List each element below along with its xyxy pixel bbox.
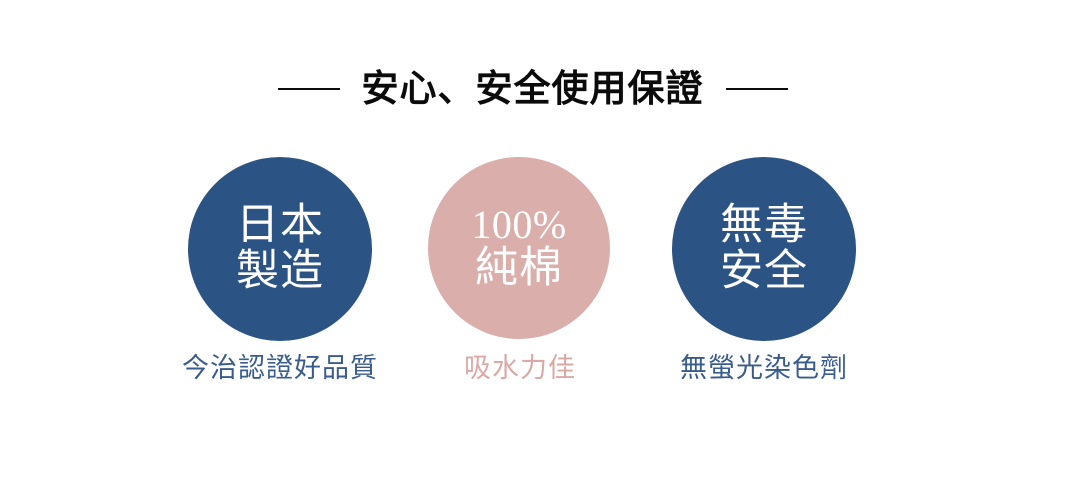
- badge-circle-line-2: 純棉: [475, 246, 563, 292]
- badge-circle-line-1: 日本: [236, 203, 324, 249]
- heading-left-rule-icon: [278, 88, 340, 90]
- badge-circle-line-1: 100%: [471, 203, 566, 246]
- badge-caption: 今治認證好品質: [142, 355, 418, 382]
- badge-circle-line-2: 安全: [720, 249, 808, 295]
- badge-row: 日本 製造 今治認證好品質 100% 純棉 吸水力佳 無毒 安全 無螢光染色劑: [188, 157, 856, 402]
- badge-circle: 100% 純棉: [428, 157, 610, 339]
- badge-circle-line-2: 製造: [236, 249, 324, 295]
- guarantee-banner: 安心、安全使用保證 日本 製造 今治認證好品質 100% 純棉 吸水力佳 無毒 …: [0, 0, 1065, 485]
- badge-made-in-japan: 日本 製造 今治認證好品質: [188, 157, 372, 402]
- heading-right-rule-icon: [726, 88, 788, 90]
- page-title: 安心、安全使用保證: [362, 71, 704, 108]
- banner-heading: 安心、安全使用保證: [0, 58, 1065, 120]
- badge-caption: 無螢光染色劑: [626, 355, 902, 382]
- badge-pure-cotton: 100% 純棉 吸水力佳: [428, 157, 612, 402]
- badge-caption: 吸水力佳: [382, 355, 658, 382]
- badge-non-toxic-safe: 無毒 安全 無螢光染色劑: [672, 157, 856, 402]
- badge-circle-line-1: 無毒: [720, 203, 808, 249]
- badge-circle: 無毒 安全: [672, 157, 856, 341]
- badge-circle: 日本 製造: [188, 157, 372, 341]
